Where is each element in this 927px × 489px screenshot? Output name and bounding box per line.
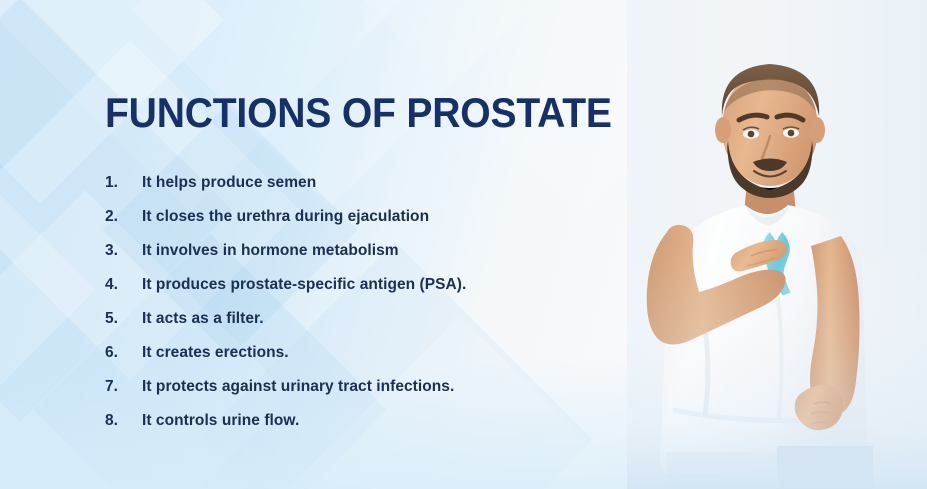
list-item-text: It helps produce semen	[142, 174, 316, 192]
list-item: 5. It acts as a filter.	[105, 310, 665, 344]
list-item-number: 7.	[105, 378, 142, 396]
list-item: 8. It controls urine flow.	[105, 412, 665, 446]
list-item-text: It controls urine flow.	[142, 412, 299, 430]
list-item: 3. It involves in hormone metabolism	[105, 242, 665, 276]
list-item: 6. It creates erections.	[105, 344, 665, 378]
list-item-text: It acts as a filter.	[142, 310, 264, 328]
text-content: FUNCTIONS OF PROSTATE 1. It helps produc…	[105, 92, 665, 446]
list-item-text: It closes the urethra during ejaculation	[142, 208, 429, 226]
list-item: 1. It helps produce semen	[105, 174, 665, 208]
page-title: FUNCTIONS OF PROSTATE	[105, 92, 626, 134]
list-item-number: 8.	[105, 412, 142, 430]
list-item-number: 6.	[105, 344, 142, 362]
photo-man-with-ribbon	[627, 0, 927, 489]
list-item-text: It protects against urinary tract infect…	[142, 378, 454, 396]
list-item-number: 2.	[105, 208, 142, 226]
list-item-number: 4.	[105, 276, 142, 294]
list-item-number: 5.	[105, 310, 142, 328]
list-item-number: 1.	[105, 174, 142, 192]
functions-list: 1. It helps produce semen 2. It closes t…	[105, 174, 665, 446]
list-item-text: It involves in hormone metabolism	[142, 242, 399, 260]
list-item: 4. It produces prostate-specific antigen…	[105, 276, 665, 310]
prostate-functions-infographic: FUNCTIONS OF PROSTATE 1. It helps produc…	[0, 0, 927, 489]
list-item-text: It creates erections.	[142, 344, 289, 362]
list-item: 2. It closes the urethra during ejaculat…	[105, 208, 665, 242]
list-item-number: 3.	[105, 242, 142, 260]
list-item-text: It produces prostate-specific antigen (P…	[142, 276, 466, 294]
facet-shape	[0, 134, 96, 445]
list-item: 7. It protects against urinary tract inf…	[105, 378, 665, 412]
